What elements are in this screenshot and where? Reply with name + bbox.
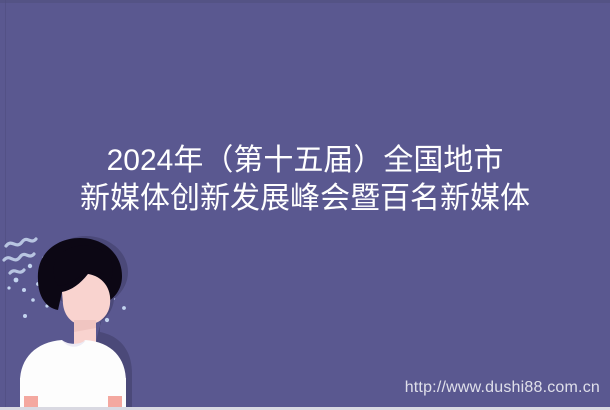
- top-edge-band: [0, 0, 610, 3]
- watermark-url: http://www.dushi88.com.cn: [405, 379, 600, 397]
- title-line-1: 2024年（第十五届）全国地市: [0, 142, 610, 180]
- poster-image: 2024年（第十五届）全国地市 新媒体创新发展峰会暨百名新媒体 http://w…: [0, 0, 610, 410]
- left-sleeve: [20, 378, 42, 396]
- squiggle-decoration: [4, 239, 36, 273]
- person-looking-up-illustration: [0, 228, 150, 410]
- page-title: 2024年（第十五届）全国地市 新媒体创新发展峰会暨百名新媒体: [0, 142, 610, 218]
- title-line-2: 新媒体创新发展峰会暨百名新媒体: [0, 180, 610, 218]
- right-sleeve: [104, 378, 126, 396]
